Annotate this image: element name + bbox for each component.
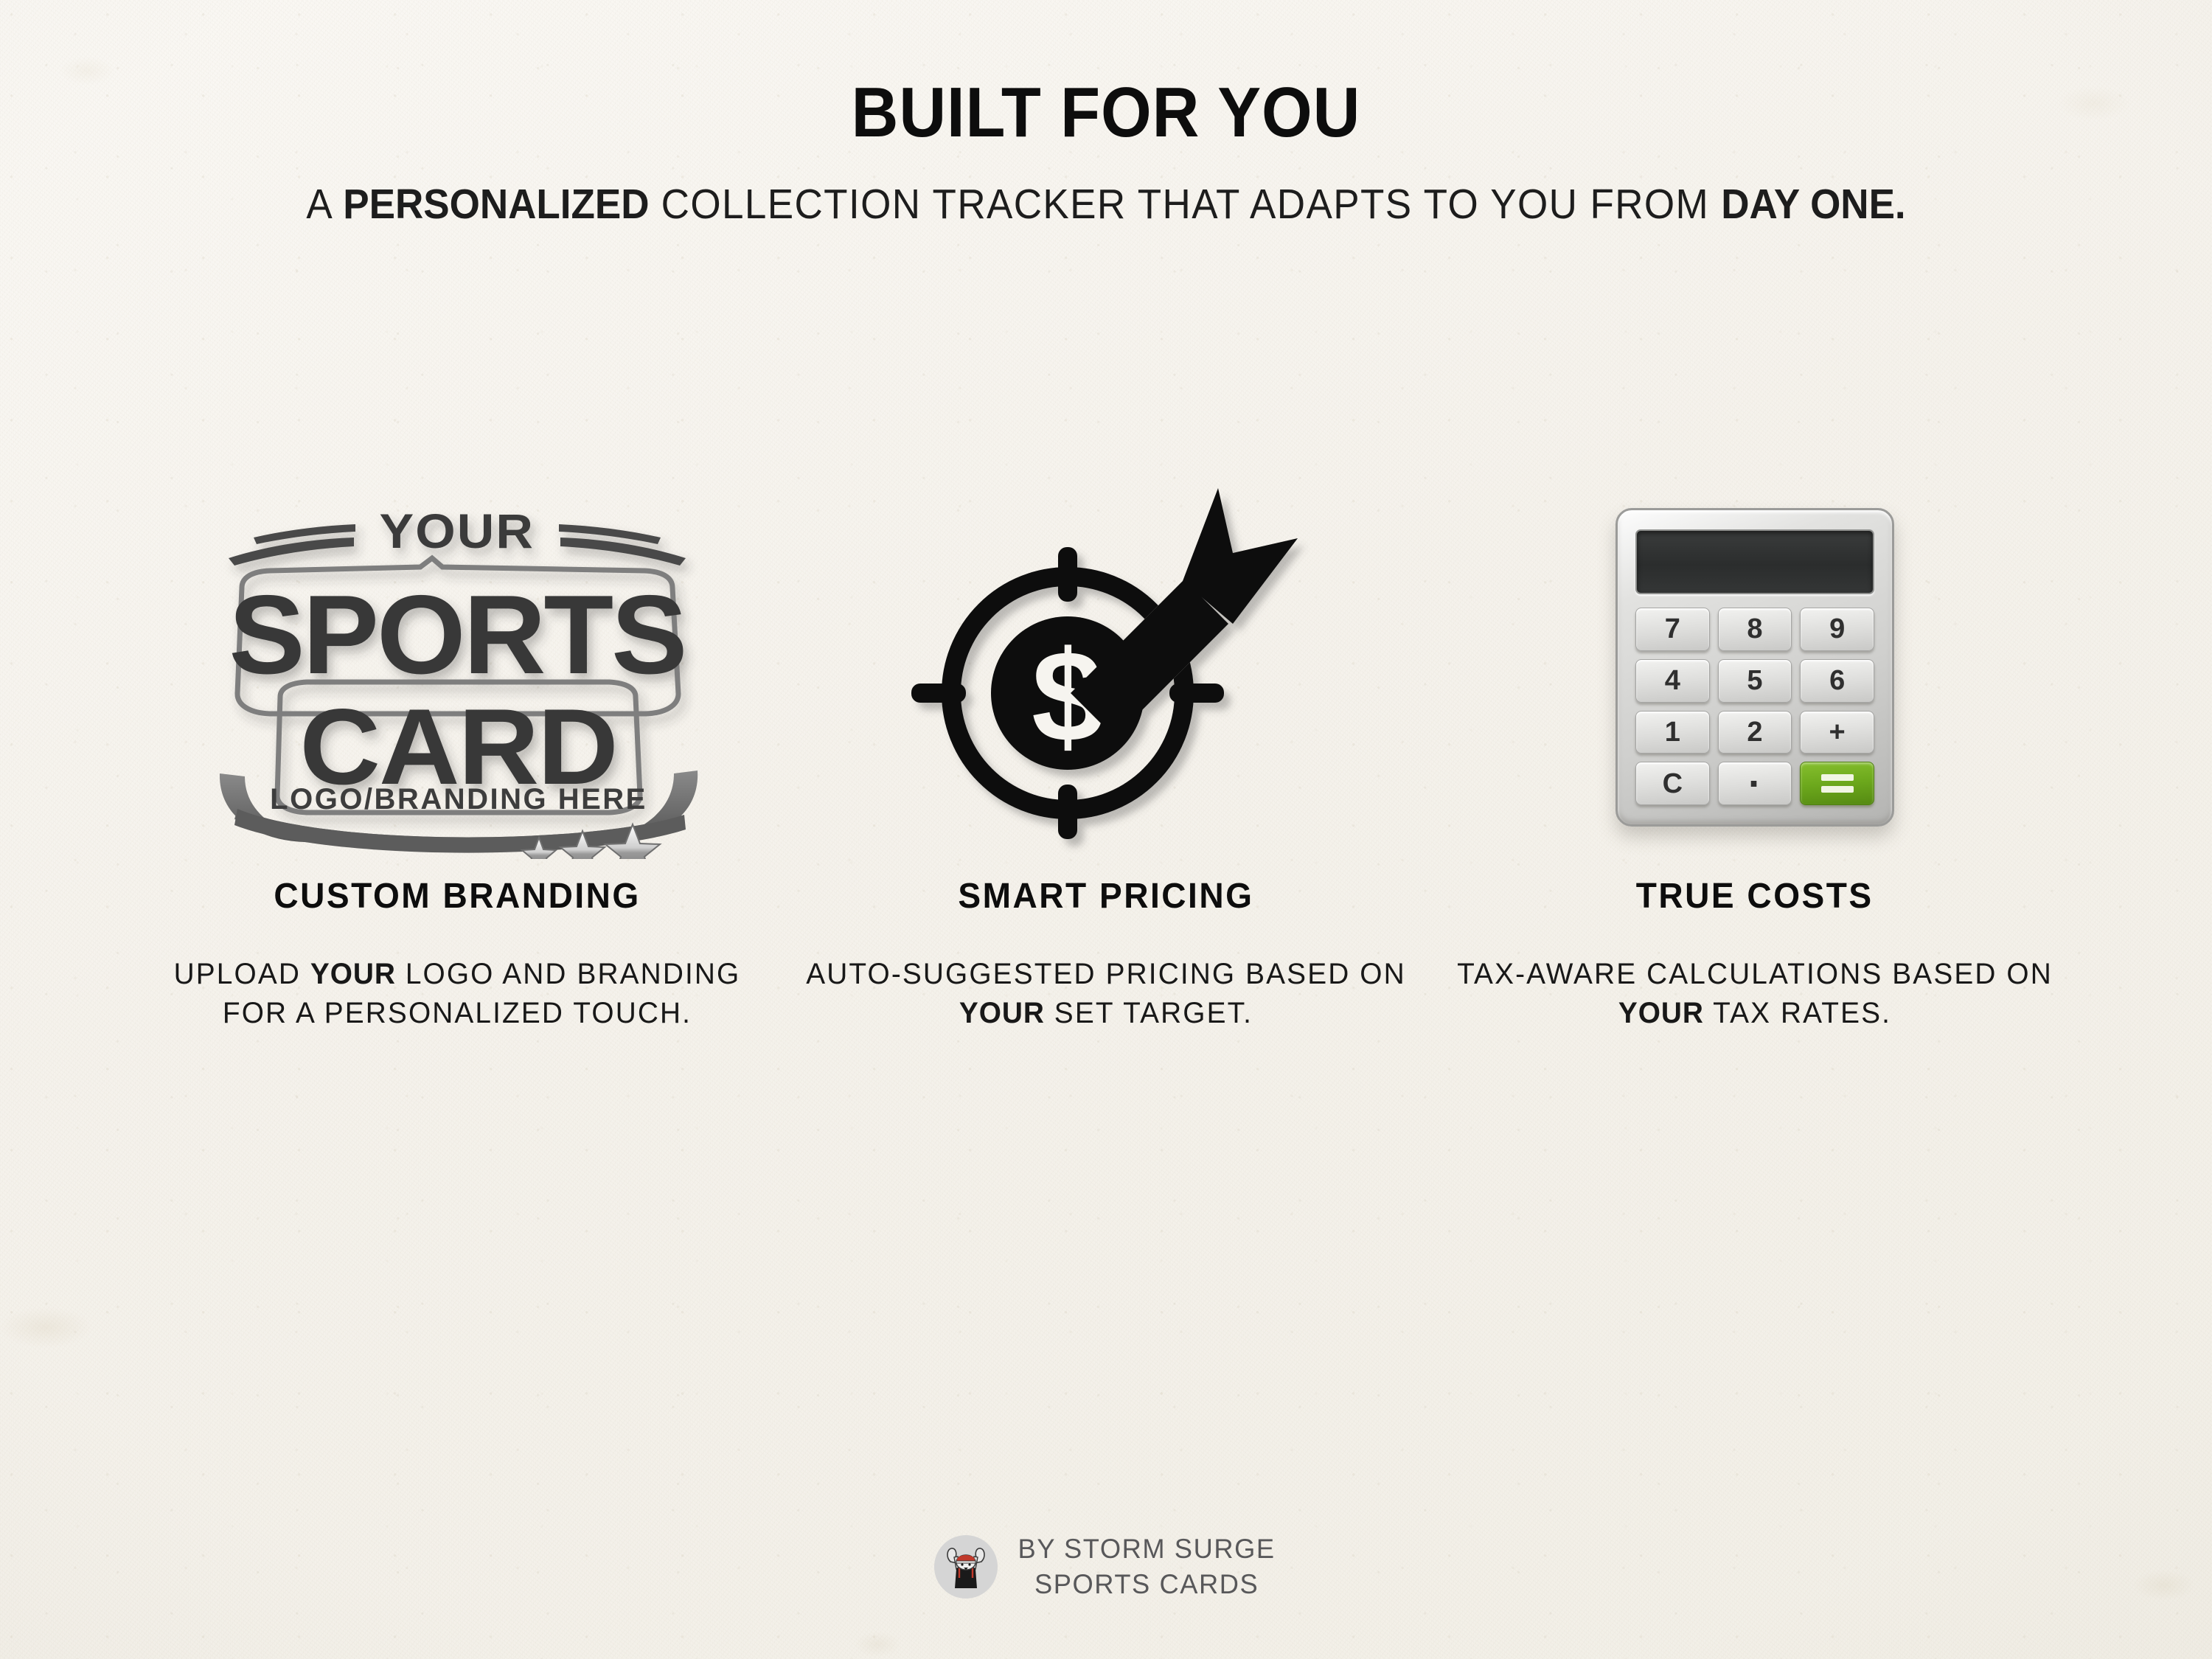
svg-text:SPORTS: SPORTS: [229, 571, 685, 697]
calc-key-9: 9: [1800, 608, 1874, 651]
feature-icon-slot: 7 8 9 4 5 6 1 2 + C ·: [1615, 472, 1894, 863]
feature-columns: YOUR SPORTS CARD: [0, 472, 2212, 1033]
footer: BY STORM SURGE SPORTS CARDS: [0, 1531, 2212, 1601]
footer-line-2: SPORTS CARDS: [1018, 1567, 1275, 1601]
page-subtitle: A PERSONALIZED COLLECTION TRACKER THAT A…: [77, 180, 2135, 229]
target-dollar-dart-icon: $: [900, 472, 1312, 863]
feature-icon-slot: $: [900, 472, 1312, 863]
svg-text:YOUR: YOUR: [380, 504, 535, 559]
feature-title: SMART PRICING: [958, 876, 1253, 917]
footer-brand-text: BY STORM SURGE SPORTS CARDS: [1018, 1531, 1275, 1601]
page-title: BUILT FOR YOU: [88, 77, 2124, 149]
equals-glyph: [1821, 774, 1854, 793]
calc-key-decimal: ·: [1718, 762, 1792, 805]
calc-key-2: 2: [1718, 711, 1792, 754]
feature-custom-branding: YOUR SPORTS CARD: [133, 472, 782, 1033]
footer-line-1: BY STORM SURGE: [1018, 1531, 1275, 1566]
header: BUILT FOR YOU A PERSONALIZED COLLECTION …: [0, 0, 2212, 229]
feature-icon-slot: YOUR SPORTS CARD: [199, 472, 715, 863]
calc-key-8: 8: [1718, 608, 1792, 651]
storm-surge-mascot-icon: [934, 1535, 998, 1599]
sports-card-logo-icon: YOUR SPORTS CARD: [199, 476, 715, 859]
calc-key-7: 7: [1635, 608, 1710, 651]
calculator-icon: 7 8 9 4 5 6 1 2 + C ·: [1615, 508, 1894, 827]
slide-page: BUILT FOR YOU A PERSONALIZED COLLECTION …: [0, 0, 2212, 1659]
calc-key-1: 1: [1635, 711, 1710, 754]
calc-key-clear: C: [1635, 762, 1710, 805]
calc-key-5: 5: [1718, 659, 1792, 703]
feature-description: AUTO-SUGGESTED PRICING BASED ON YOUR SET…: [791, 955, 1421, 1033]
feature-title: CUSTOM BRANDING: [274, 876, 640, 917]
calc-key-equals: [1800, 762, 1874, 805]
feature-true-costs: 7 8 9 4 5 6 1 2 + C ·: [1430, 472, 2079, 1033]
calc-key-4: 4: [1635, 659, 1710, 703]
svg-text:LOGO/BRANDING HERE: LOGO/BRANDING HERE: [270, 783, 647, 815]
feature-title: TRUE COSTS: [1636, 876, 1874, 917]
feature-description: TAX-AWARE CALCULATIONS BASED ON YOUR TAX…: [1440, 955, 2070, 1033]
calculator-keypad: 7 8 9 4 5 6 1 2 + C ·: [1635, 608, 1874, 805]
calc-key-plus: +: [1800, 711, 1874, 754]
calculator-display: [1635, 529, 1874, 594]
feature-smart-pricing: $ SMART PRICING AUTO-SUGGESTED PRICING B…: [782, 472, 1430, 1033]
feature-description: UPLOAD YOUR LOGO AND BRANDING FOR A PERS…: [142, 955, 772, 1033]
calc-key-6: 6: [1800, 659, 1874, 703]
